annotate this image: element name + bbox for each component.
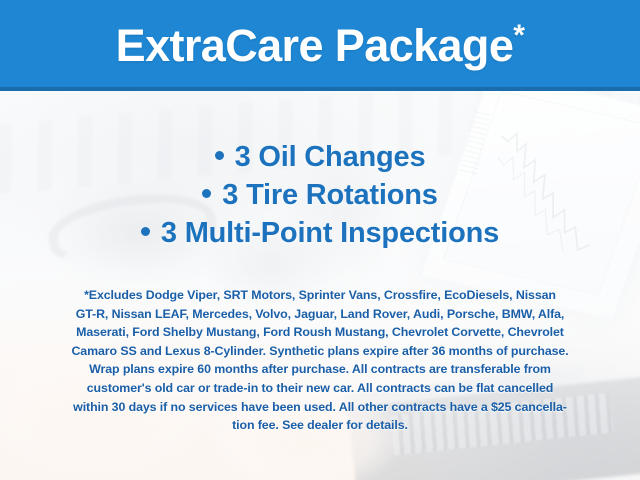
disclaimer-line: *Excludes Dodge Viper, SRT Motors, Sprin… xyxy=(24,286,616,305)
bullet-dot-icon xyxy=(215,151,224,160)
disclaimer-line: GT-R, Nissan LEAF, Mercedes, Volvo, Jagu… xyxy=(24,305,616,324)
disclaimer-line: Maserati, Ford Shelby Mustang, Ford Rous… xyxy=(24,323,616,342)
disclaimer-text: *Excludes Dodge Viper, SRT Motors, Sprin… xyxy=(24,286,616,435)
list-item: 3 Tire Rotations xyxy=(0,176,640,214)
list-item: 3 Oil Changes xyxy=(0,138,640,176)
disclaimer-line: within 30 days if no services have been … xyxy=(24,398,616,417)
disclaimer-line: Wrap plans expire 60 months after purcha… xyxy=(24,360,616,379)
extracare-package-poster: ExtraCare Package* 3 Oil Changes 3 Tire … xyxy=(0,0,640,480)
page-title: ExtraCare Package* xyxy=(116,23,525,68)
disclaimer-line: tion fee. See dealer for details. xyxy=(24,416,616,435)
list-item-label: 3 Tire Rotations xyxy=(222,179,437,211)
disclaimer-line: Camaro SS and Lexus 8-Cylinder. Syntheti… xyxy=(24,342,616,361)
header-banner: ExtraCare Package* xyxy=(0,0,640,91)
list-item-label: 3 Multi-Point Inspections xyxy=(161,217,499,249)
benefits-list: 3 Oil Changes 3 Tire Rotations 3 Multi-P… xyxy=(0,138,640,252)
list-item: 3 Multi-Point Inspections xyxy=(0,214,640,252)
bullet-dot-icon xyxy=(141,227,150,236)
list-item-label: 3 Oil Changes xyxy=(235,141,426,173)
bullet-dot-icon xyxy=(202,189,211,198)
disclaimer-line: customer's old car or trade-in to their … xyxy=(24,379,616,398)
page-title-asterisk: * xyxy=(513,19,524,52)
page-title-text: ExtraCare Package xyxy=(116,20,514,71)
